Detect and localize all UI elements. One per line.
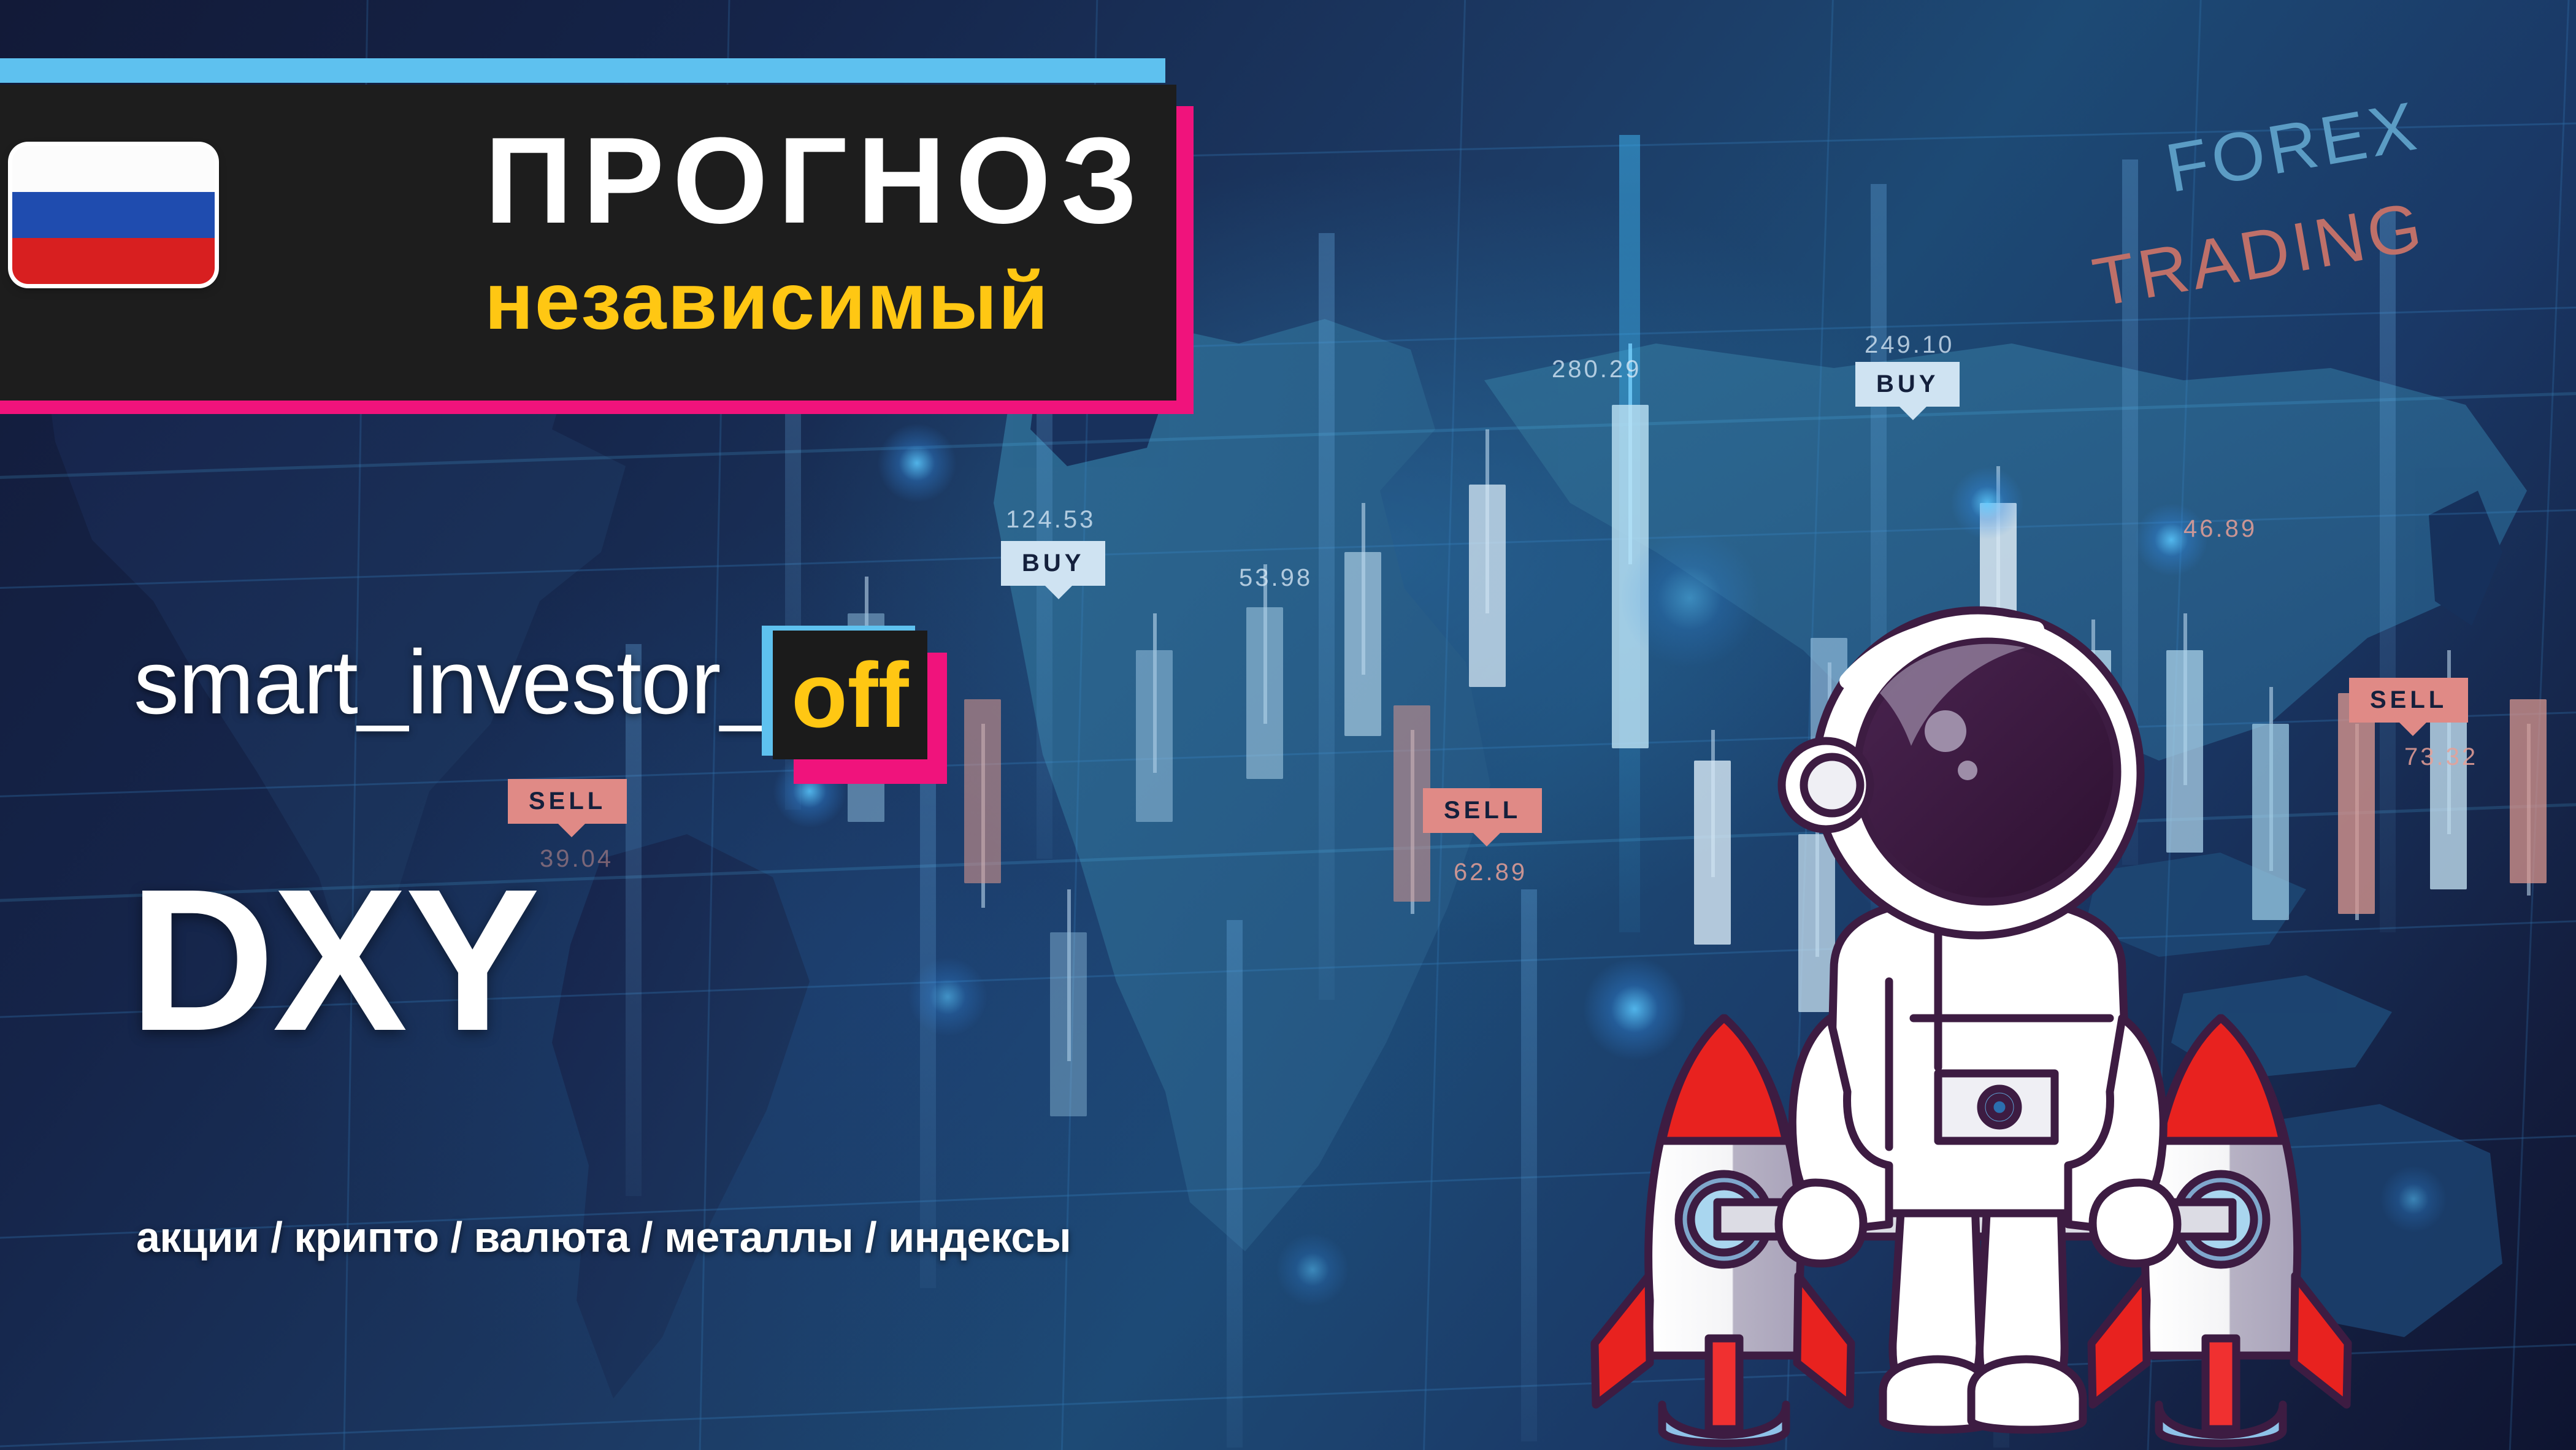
banner-pink-bottom-accent bbox=[0, 401, 1194, 414]
price-label-124: 124.53 bbox=[1006, 506, 1095, 534]
sell-tag: SELL bbox=[508, 779, 627, 824]
price-label-46: 46.89 bbox=[2183, 515, 2257, 543]
banner-cyan-bar bbox=[0, 58, 1165, 83]
price-label-39: 39.04 bbox=[540, 845, 613, 873]
banner-title: ПРОГНОЗ bbox=[485, 120, 1148, 242]
highlight-black-panel: off bbox=[773, 631, 927, 759]
russian-flag-icon bbox=[12, 146, 215, 284]
sell-tag: SELL bbox=[1423, 788, 1542, 833]
banner-pink-right-accent bbox=[1176, 106, 1194, 413]
price-label-280: 280.29 bbox=[1552, 356, 1641, 383]
promo-banner: FOREX TRADING 280.29 249.10 BUY 124.53 B… bbox=[0, 0, 2576, 1450]
categories-tagline: акции / крипто / валюта / металлы / инде… bbox=[136, 1213, 1071, 1262]
ticker-symbol: DXY bbox=[129, 859, 538, 1061]
astronaut-mascot bbox=[1570, 589, 2386, 1448]
buy-tag: BUY bbox=[1001, 541, 1105, 586]
brand-highlight-box: off bbox=[773, 631, 927, 759]
banner-subtitle: независимый bbox=[485, 261, 1049, 342]
brand-name: smart_investor_ bbox=[134, 632, 770, 733]
buy-tag: BUY bbox=[1855, 362, 1960, 407]
price-label-249: 249.10 bbox=[1865, 331, 1954, 359]
brand-highlight-text: off bbox=[791, 649, 909, 741]
price-label-62: 62.89 bbox=[1454, 859, 1527, 886]
brand-handle: smart_investor_off bbox=[134, 631, 927, 759]
price-label-73: 73.32 bbox=[2404, 743, 2478, 771]
price-label-53: 53.98 bbox=[1239, 564, 1313, 592]
